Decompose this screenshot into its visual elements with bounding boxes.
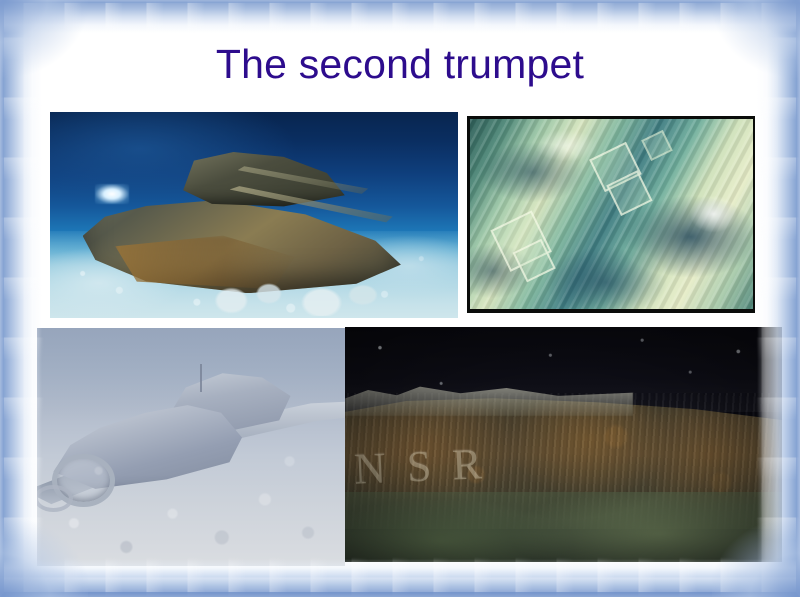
bow-debris-rocks (205, 281, 393, 316)
deck-sand-texture (37, 328, 345, 566)
titanic-bow-photo[interactable] (50, 112, 458, 318)
debris-field-photo[interactable] (467, 116, 755, 313)
debris-photo-canvas (467, 116, 755, 313)
deck-photo-canvas (37, 328, 345, 566)
submersible-light-glow (95, 184, 129, 204)
letters-vignette (345, 327, 782, 562)
slide-title: The second trumpet (0, 40, 800, 88)
letters-photo-canvas: N S R (345, 327, 782, 562)
wreck-deck-photo[interactable] (37, 328, 345, 566)
debris-highlight-patches (470, 119, 753, 309)
slide-canvas: N S R The second trumpet (0, 0, 800, 597)
bow-photo-canvas (50, 112, 458, 318)
hull-lettering-photo[interactable]: N S R (345, 327, 782, 562)
